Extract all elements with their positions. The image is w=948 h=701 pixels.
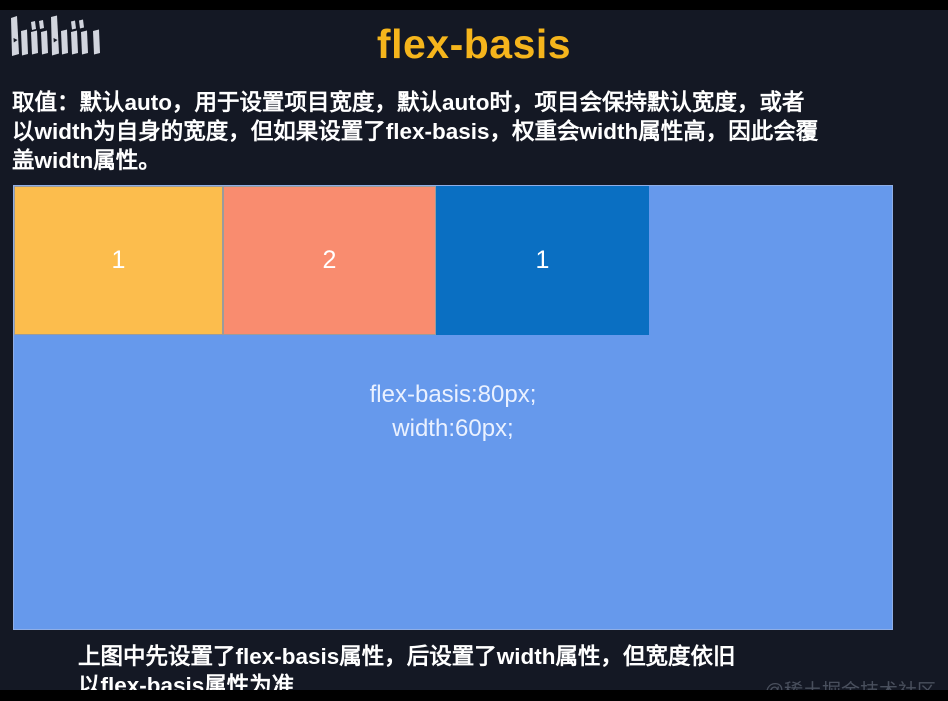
slide-root: flex-basis 取值：默认auto，用于设置项目宽度，默认auto时，项目… bbox=[0, 0, 948, 701]
flex-item-3: 1 bbox=[436, 186, 649, 335]
juejin-watermark: @稀土掘金技术社区 bbox=[765, 676, 936, 690]
code-line-flex-basis: flex-basis:80px; bbox=[13, 378, 893, 412]
flex-item-1: 1 bbox=[14, 186, 223, 335]
description-text: 取值：默认auto，用于设置项目宽度，默认auto时，项目会保持默认宽度，或者 … bbox=[12, 88, 940, 175]
page-title: flex-basis bbox=[0, 18, 948, 70]
flex-item-2: 2 bbox=[223, 186, 436, 335]
flex-item-2-label: 2 bbox=[323, 248, 337, 273]
bottom-caption-line-1: 上图中先设置了flex-basis属性，后设置了width属性，但宽度依旧 bbox=[78, 642, 938, 671]
description-line-1: 取值：默认auto，用于设置项目宽度，默认auto时，项目会保持默认宽度，或者 bbox=[12, 88, 940, 117]
description-line-3: 盖widtn属性。 bbox=[12, 146, 940, 175]
flex-item-3-label: 1 bbox=[536, 248, 550, 273]
description-line-2: 以width为自身的宽度，但如果设置了flex-basis，权重会width属性… bbox=[12, 117, 940, 146]
code-line-width: width:60px; bbox=[13, 412, 893, 446]
code-caption: flex-basis:80px; width:60px; bbox=[13, 378, 893, 446]
flex-item-1-label: 1 bbox=[112, 248, 126, 273]
video-content-area: flex-basis 取值：默认auto，用于设置项目宽度，默认auto时，项目… bbox=[0, 10, 948, 690]
